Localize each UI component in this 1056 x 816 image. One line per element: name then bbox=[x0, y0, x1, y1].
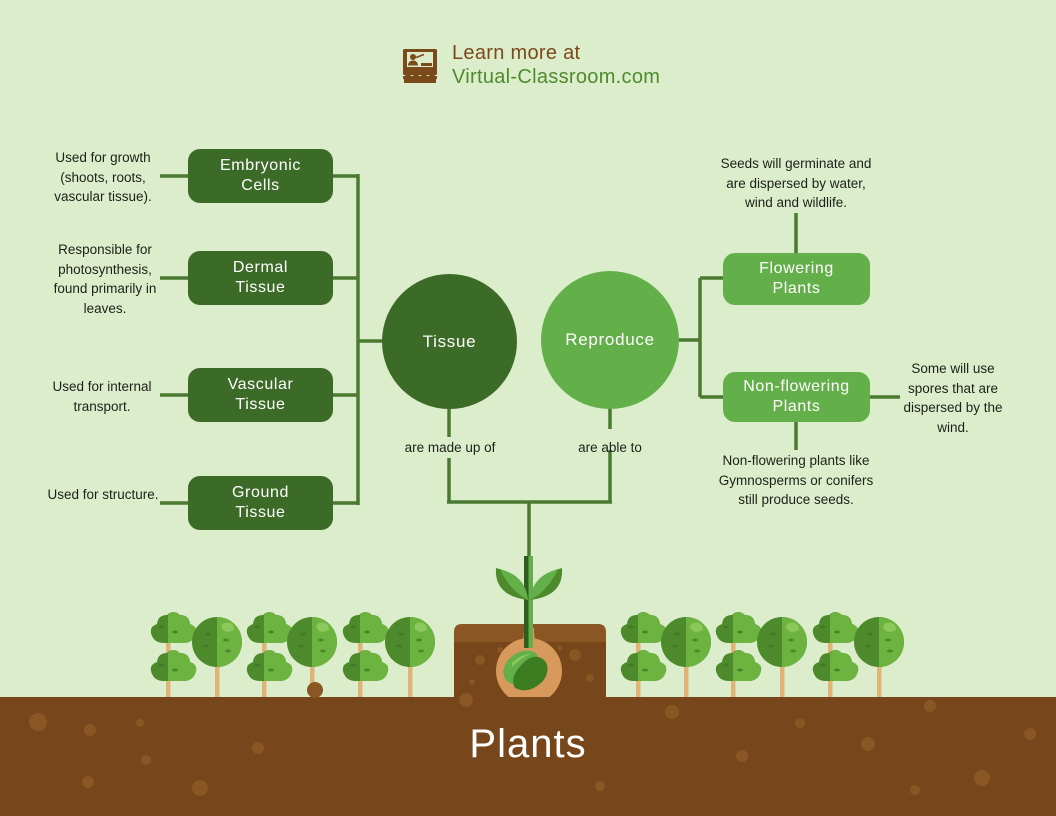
tree-row-right bbox=[621, 612, 904, 698]
infographic-canvas: Learn more at Virtual-Classroom.com Used… bbox=[0, 0, 1056, 816]
tree-row-left bbox=[151, 612, 435, 698]
plants-illustration bbox=[0, 0, 1056, 816]
page-title: Plants bbox=[0, 722, 1056, 767]
